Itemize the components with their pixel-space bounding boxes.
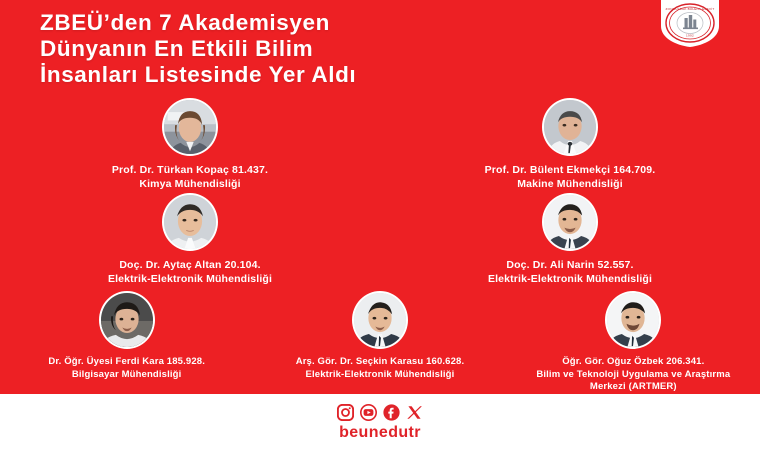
poster-root: ZBEÜ’den 7 Akademisyen Dünyanın En Etkil… [0,0,760,450]
person-department: Bilim ve Teknoloji Uygulama ve Araştırma… [536,369,730,394]
poster-header: ZBEÜ’den 7 Akademisyen Dünyanın En Etkil… [0,0,760,96]
x-twitter-icon[interactable] [406,404,423,421]
person-card: Arş. Gör. Dr. Seçkin Karasu 160.628. Ele… [255,291,505,381]
portrait-aytac-altan [162,193,218,251]
person-card: Prof. Dr. Bülent Ekmekçi 164.709. Makine… [400,98,740,191]
svg-text:1992: 1992 [686,34,694,38]
person-department: Makine Mühendisliği [517,177,623,191]
portrait-ali-narin [542,193,598,251]
portrait-bulent-ekmekci [542,98,598,156]
social-links [337,402,423,422]
person-card: Doç. Dr. Aytaç Altan 20.104. Elektrik-El… [20,193,360,286]
person-card: Dr. Öğr. Üyesi Ferdi Kara 185.928. Bilgi… [2,291,252,381]
portrait-ferdi-kara [99,291,155,349]
person-card: Doç. Dr. Ali Narin 52.557. Elektrik-Elek… [400,193,740,286]
facebook-icon[interactable] [383,404,400,421]
portrait-turkan-kopac [162,98,218,156]
youtube-icon[interactable] [360,404,377,421]
zbeu-crest-logo: ZONGULDAK BÜLENT ECEVİT 1992 [659,0,721,48]
portrait-seckin-karasu [352,291,408,349]
social-handle: beunedutr [339,424,421,442]
person-name: Doç. Dr. Ali Narin 52.557. [506,258,633,272]
red-background-panel: ZBEÜ’den 7 Akademisyen Dünyanın En Etkil… [0,0,760,394]
person-name: Arş. Gör. Dr. Seçkin Karasu 160.628. [296,356,465,369]
person-department: Kimya Mühendisliği [139,177,240,191]
poster-footer: beunedutr [0,394,760,450]
people-row-2: Doç. Dr. Aytaç Altan 20.104. Elektrik-El… [0,193,760,286]
person-name: Doç. Dr. Aytaç Altan 20.104. [119,258,260,272]
person-name: Prof. Dr. Türkan Kopaç 81.437. [112,163,268,177]
instagram-icon[interactable] [337,404,354,421]
person-name: Öğr. Gör. Oğuz Özbek 206.341. [562,356,704,369]
portrait-oguz-ozbek [605,291,661,349]
person-department: Elektrik-Elektronik Mühendisliği [108,272,272,286]
person-card: Prof. Dr. Türkan Kopaç 81.437. Kimya Müh… [20,98,360,191]
page-title: ZBEÜ’den 7 Akademisyen Dünyanın En Etkil… [40,10,620,88]
person-card: Öğr. Gör. Oğuz Özbek 206.341. Bilim ve T… [508,291,758,394]
person-name: Dr. Öğr. Üyesi Ferdi Kara 185.928. [48,356,205,369]
svg-text:ZONGULDAK BÜLENT ECEVİT: ZONGULDAK BÜLENT ECEVİT [666,6,715,11]
person-name: Prof. Dr. Bülent Ekmekçi 164.709. [485,163,656,177]
people-row-3: Dr. Öğr. Üyesi Ferdi Kara 185.928. Bilgi… [0,291,760,394]
person-department: Bilgisayar Mühendisliği [72,369,182,382]
person-department: Elektrik-Elektronik Mühendisliği [488,272,652,286]
person-department: Elektrik-Elektronik Mühendisliği [306,369,455,382]
people-row-1: Prof. Dr. Türkan Kopaç 81.437. Kimya Müh… [0,98,760,191]
